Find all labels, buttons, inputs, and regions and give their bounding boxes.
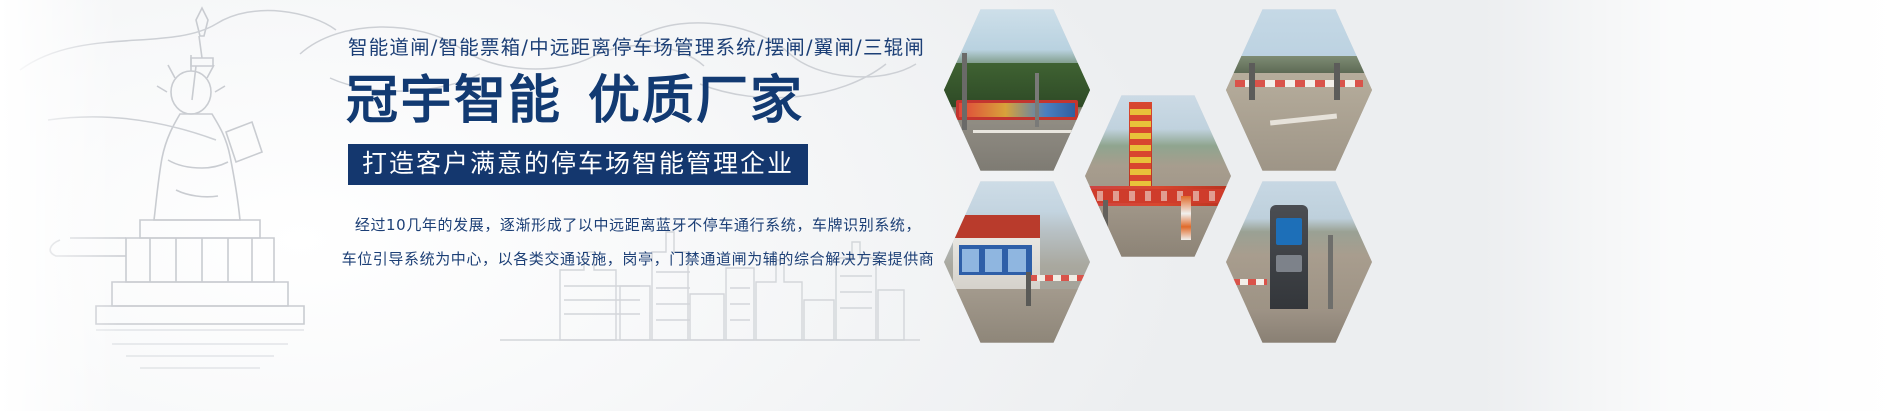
banner-headline: 冠宇智能优质厂家: [346, 73, 938, 129]
banner-text-block: 智能道闸/智能票箱/中远距离停车场管理系统/摆闸/翼闸/三辊闸 冠宇智能优质厂家…: [338, 36, 938, 326]
hex-photo-barrier-gate-billboard: [944, 6, 1090, 174]
statue-of-liberty-icon: [50, 8, 304, 324]
paragraph-line-2: 车位引导系统为中心，以各类交通设施，岗亭，门禁通道闸为辅的综合解决方案提供商: [338, 243, 938, 277]
hex-photo-ticket-box-terminal: [1226, 178, 1372, 346]
banner-paragraph: 经过10几年的发展，逐渐形成了以中远距离蓝牙不停车通行系统，车牌识别系统， 车位…: [338, 209, 938, 277]
banner-tagline: 智能道闸/智能票箱/中远距离停车场管理系统/摆闸/翼闸/三辊闸: [348, 36, 938, 59]
headline-part-1: 冠宇智能: [346, 71, 562, 131]
left-fade-overlay: [0, 0, 120, 411]
hex-photo-red-blue-gate-house: [944, 178, 1090, 346]
photo-scene: [1226, 178, 1372, 346]
photo-scene: [944, 6, 1090, 174]
promo-banner: 智能道闸/智能票箱/中远距离停车场管理系统/摆闸/翼闸/三辊闸 冠宇智能优质厂家…: [0, 0, 1900, 411]
banner-ribbon: 打造客户满意的停车场智能管理企业: [348, 144, 808, 186]
reflection-lines: [96, 330, 304, 368]
photo-scene: [944, 178, 1090, 346]
hex-photo-gallery: [930, 0, 1490, 411]
hex-photo-parking-lot-barrier: [1226, 6, 1372, 174]
hex-photo-banner-gate-entry: [1085, 92, 1231, 260]
right-fade-overlay: [1480, 0, 1900, 411]
photo-scene: [1226, 6, 1372, 174]
headline-part-2: 优质厂家: [588, 71, 804, 131]
paragraph-line-1: 经过10几年的发展，逐渐形成了以中远距离蓝牙不停车通行系统，车牌识别系统，: [355, 216, 921, 234]
photo-scene: [1085, 92, 1231, 260]
